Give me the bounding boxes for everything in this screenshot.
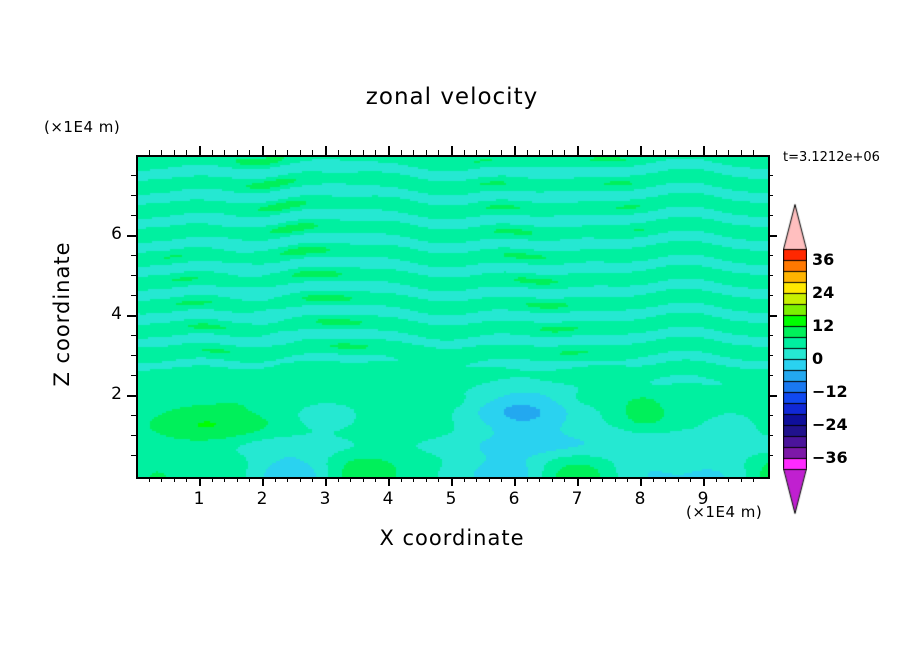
y-minor-tick <box>131 275 136 276</box>
x-tick-label: 9 <box>683 489 723 509</box>
x-major-tick <box>262 477 264 486</box>
x-tick-label: 4 <box>368 489 408 509</box>
x-minor-tick-top <box>627 150 628 155</box>
colorbar-tick-label: 24 <box>812 283 834 302</box>
x-minor-tick-top <box>401 150 402 155</box>
x-minor-tick-top <box>552 150 553 155</box>
x-minor-tick <box>501 477 502 482</box>
y-minor-tick <box>131 455 136 456</box>
x-tick-label: 1 <box>179 489 219 509</box>
y-minor-tick-right <box>768 255 773 256</box>
x-minor-tick-top <box>426 150 427 155</box>
x-minor-tick <box>602 477 603 482</box>
x-minor-tick <box>690 477 691 482</box>
x-minor-tick <box>224 477 225 482</box>
x-minor-tick <box>350 477 351 482</box>
y-minor-tick <box>131 255 136 256</box>
figure-root: zonal velocity (×1E4 m) (×1E4 m) t=3.121… <box>0 0 904 654</box>
x-minor-tick <box>186 477 187 482</box>
x-major-tick <box>514 477 516 486</box>
x-minor-tick <box>174 477 175 482</box>
x-minor-tick <box>413 477 414 482</box>
x-major-tick <box>325 477 327 486</box>
x-minor-tick <box>653 477 654 482</box>
y-minor-tick-right <box>768 375 773 376</box>
x-minor-tick <box>627 477 628 482</box>
x-minor-tick <box>212 477 213 482</box>
y-minor-tick <box>131 295 136 296</box>
x-minor-tick-top <box>665 150 666 155</box>
y-axis-unit-label: (×1E4 m) <box>44 118 120 136</box>
x-minor-tick <box>426 477 427 482</box>
y-minor-tick-right <box>768 335 773 336</box>
x-major-tick <box>577 477 579 486</box>
x-minor-tick-top <box>249 150 250 155</box>
x-minor-tick-top <box>363 150 364 155</box>
x-major-tick <box>640 477 642 486</box>
x-minor-tick <box>464 477 465 482</box>
x-minor-tick-top <box>375 150 376 155</box>
x-minor-tick-top <box>690 150 691 155</box>
x-minor-tick <box>375 477 376 482</box>
y-major-tick <box>127 235 136 237</box>
x-minor-tick-top <box>678 150 679 155</box>
x-minor-tick-top <box>501 150 502 155</box>
x-axis-title: X coordinate <box>0 526 904 550</box>
x-minor-tick <box>249 477 250 482</box>
x-minor-tick <box>590 477 591 482</box>
x-minor-tick-top <box>237 150 238 155</box>
colorbar-tick-label: −12 <box>812 382 848 401</box>
colorbar-tick-label: −36 <box>812 448 848 467</box>
x-major-tick <box>451 477 453 486</box>
x-minor-tick-top <box>338 150 339 155</box>
colorbar <box>783 203 807 515</box>
y-minor-tick <box>131 175 136 176</box>
y-minor-tick-right <box>768 435 773 436</box>
time-annotation: t=3.1212e+06 <box>783 150 880 165</box>
y-minor-tick <box>131 355 136 356</box>
x-minor-tick-top <box>312 150 313 155</box>
colorbar-tick-label: 0 <box>812 349 823 368</box>
x-minor-tick <box>161 477 162 482</box>
x-major-tick-top <box>577 146 579 155</box>
x-minor-tick-top <box>174 150 175 155</box>
x-minor-tick <box>237 477 238 482</box>
x-minor-tick-top <box>413 150 414 155</box>
x-minor-tick <box>539 477 540 482</box>
y-axis-title: Z coordinate <box>50 214 74 414</box>
x-minor-tick <box>300 477 301 482</box>
y-minor-tick-right <box>768 355 773 356</box>
x-tick-label: 7 <box>557 489 597 509</box>
x-minor-tick-top <box>615 150 616 155</box>
x-minor-tick <box>312 477 313 482</box>
page-title: zonal velocity <box>0 84 904 110</box>
x-minor-tick <box>665 477 666 482</box>
y-tick-label: 2 <box>94 384 122 404</box>
y-minor-tick-right <box>768 275 773 276</box>
x-minor-tick <box>728 477 729 482</box>
x-minor-tick-top <box>728 150 729 155</box>
y-tick-label: 6 <box>94 224 122 244</box>
x-minor-tick-top <box>741 150 742 155</box>
x-minor-tick-top <box>602 150 603 155</box>
y-major-tick-right <box>768 315 777 317</box>
y-minor-tick-right <box>768 195 773 196</box>
y-minor-tick <box>131 195 136 196</box>
y-major-tick-right <box>768 235 777 237</box>
x-minor-tick <box>438 477 439 482</box>
y-major-tick-right <box>768 395 777 397</box>
x-major-tick <box>199 477 201 486</box>
x-minor-tick-top <box>653 150 654 155</box>
y-minor-tick-right <box>768 175 773 176</box>
colorbar-gradient <box>783 203 807 515</box>
x-minor-tick <box>275 477 276 482</box>
x-tick-label: 8 <box>620 489 660 509</box>
x-minor-tick <box>678 477 679 482</box>
y-minor-tick <box>131 415 136 416</box>
x-tick-label: 2 <box>242 489 282 509</box>
x-minor-tick-top <box>149 150 150 155</box>
x-tick-label: 6 <box>494 489 534 509</box>
y-minor-tick-right <box>768 215 773 216</box>
y-major-tick <box>127 395 136 397</box>
x-minor-tick-top <box>716 150 717 155</box>
contour-field <box>138 157 768 477</box>
y-minor-tick <box>131 335 136 336</box>
colorbar-tick-label: 12 <box>812 316 834 335</box>
x-minor-tick <box>287 477 288 482</box>
colorbar-tick-label: 36 <box>812 250 834 269</box>
x-major-tick-top <box>325 146 327 155</box>
x-major-tick-top <box>514 146 516 155</box>
x-minor-tick-top <box>564 150 565 155</box>
x-minor-tick <box>753 477 754 482</box>
x-minor-tick-top <box>464 150 465 155</box>
colorbar-tick-label: −24 <box>812 415 848 434</box>
x-minor-tick <box>716 477 717 482</box>
x-minor-tick <box>527 477 528 482</box>
y-minor-tick-right <box>768 295 773 296</box>
x-minor-tick-top <box>161 150 162 155</box>
x-tick-label: 5 <box>431 489 471 509</box>
x-minor-tick-top <box>287 150 288 155</box>
y-major-tick <box>127 315 136 317</box>
x-minor-tick-top <box>438 150 439 155</box>
x-minor-tick-top <box>186 150 187 155</box>
x-major-tick <box>388 477 390 486</box>
x-minor-tick <box>564 477 565 482</box>
x-minor-tick <box>741 477 742 482</box>
x-minor-tick <box>338 477 339 482</box>
x-minor-tick-top <box>275 150 276 155</box>
x-minor-tick <box>489 477 490 482</box>
x-minor-tick-top <box>489 150 490 155</box>
x-major-tick-top <box>199 146 201 155</box>
x-major-tick-top <box>640 146 642 155</box>
x-major-tick-top <box>451 146 453 155</box>
x-minor-tick-top <box>753 150 754 155</box>
x-minor-tick-top <box>476 150 477 155</box>
y-minor-tick <box>131 375 136 376</box>
x-major-tick-top <box>262 146 264 155</box>
y-minor-tick <box>131 215 136 216</box>
x-minor-tick-top <box>590 150 591 155</box>
x-minor-tick <box>401 477 402 482</box>
x-major-tick-top <box>388 146 390 155</box>
x-major-tick-top <box>703 146 705 155</box>
y-minor-tick <box>131 435 136 436</box>
x-minor-tick <box>615 477 616 482</box>
x-minor-tick <box>363 477 364 482</box>
contour-plot-area <box>136 155 770 479</box>
x-minor-tick <box>149 477 150 482</box>
x-tick-label: 3 <box>305 489 345 509</box>
x-minor-tick <box>476 477 477 482</box>
y-tick-label: 4 <box>94 304 122 324</box>
x-minor-tick-top <box>350 150 351 155</box>
x-minor-tick-top <box>527 150 528 155</box>
x-minor-tick-top <box>539 150 540 155</box>
x-minor-tick <box>552 477 553 482</box>
x-minor-tick-top <box>224 150 225 155</box>
y-minor-tick-right <box>768 415 773 416</box>
y-minor-tick-right <box>768 455 773 456</box>
x-minor-tick-top <box>300 150 301 155</box>
x-minor-tick-top <box>212 150 213 155</box>
x-major-tick <box>703 477 705 486</box>
